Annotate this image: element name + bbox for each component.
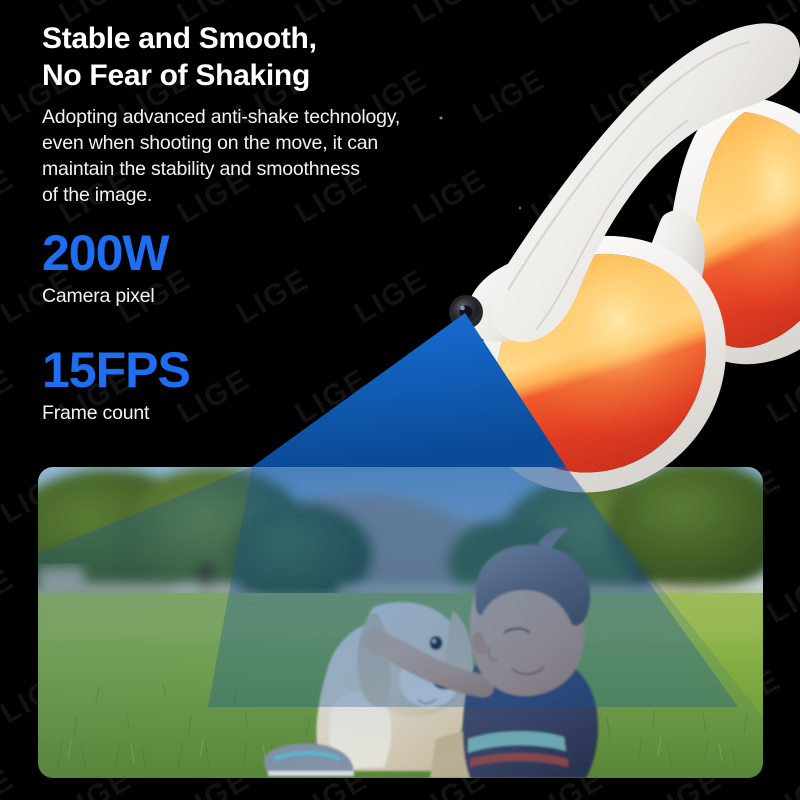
right-lens [692, 112, 800, 348]
watermark-text: LIGE [0, 763, 20, 800]
watermark-text: LIGE [703, 263, 788, 331]
camera-highlight [460, 306, 465, 311]
left-lens-glow [496, 254, 706, 473]
watermark-text: LIGE [231, 263, 316, 331]
temple-arm [492, 23, 800, 342]
right-lens-rim [668, 96, 800, 364]
watermark-text: LIGE [349, 263, 434, 331]
watermark-text: LIGE [0, 563, 20, 631]
watermark-text: LIGE [467, 63, 552, 131]
body-line-4: of the image. [42, 183, 472, 209]
headline-line-1: Stable and Smooth, [42, 20, 472, 57]
photo-artwork [38, 467, 763, 778]
watermark-text: LIGE [0, 163, 20, 231]
camera-bezel [449, 295, 483, 329]
stat-camera-pixel: 200W Camera pixel [42, 228, 169, 308]
watermark-text: LIGE [408, 363, 493, 431]
cone-beam [252, 313, 566, 467]
watermark-text: LIGE [762, 363, 800, 431]
watermark-text: LIGE [762, 763, 800, 800]
right-lens-glow [692, 112, 800, 348]
left-lens-rim [477, 236, 726, 493]
stat-frame-count: 15FPS Frame count [42, 345, 190, 425]
camera-aperture [460, 306, 473, 319]
stat-label-camera-pixel: Camera pixel [42, 285, 169, 308]
page-title: Stable and Smooth, No Fear of Shaking [42, 20, 472, 94]
watermark-text: LIGE [526, 163, 611, 231]
frame-specular-b [519, 207, 522, 210]
watermark-text: LIGE [762, 163, 800, 231]
watermark-text: LIGE [585, 63, 670, 131]
body-line-2: even when shooting on the move, it can [42, 131, 472, 157]
camera-lens [453, 299, 480, 326]
body-line-3: maintain the stability and smoothness [42, 157, 472, 183]
watermark-text: LIGE [467, 263, 552, 331]
watermark-text: LIGE [526, 0, 611, 31]
watermark-text: LIGE [585, 263, 670, 331]
watermark-text: LIGE [703, 63, 788, 131]
temple-arm-crease [536, 120, 688, 330]
headline-line-2: No Fear of Shaking [42, 57, 472, 94]
watermark-text: LIGE [762, 0, 800, 31]
left-lens [496, 254, 706, 473]
stat-value-frame-count: 15FPS [42, 345, 190, 395]
body-line-1: Adopting advanced anti-shake technology, [42, 105, 472, 131]
watermark-text: LIGE [0, 363, 20, 431]
watermark-text: LIGE [644, 363, 729, 431]
hinge-end-piece [467, 259, 563, 342]
stat-label-frame-count: Frame count [42, 402, 190, 425]
body-description: Adopting advanced anti-shake technology,… [42, 105, 472, 209]
watermark-text: LIGE [644, 163, 729, 231]
nose-bridge [637, 210, 705, 346]
frame-specular-a [521, 260, 524, 263]
copy-column: Stable and Smooth, No Fear of Shaking Ad… [42, 20, 472, 209]
watermark-text: LIGE [644, 0, 729, 31]
watermark-text: LIGE [526, 363, 611, 431]
watermark-text: LIGE [762, 563, 800, 631]
temple-arm-highlight [508, 42, 750, 290]
sample-photo [38, 467, 763, 778]
watermark-text: LIGE [0, 0, 20, 31]
banner-canvas: LIGELIGELIGELIGELIGELIGELIGELIGELIGELIGE… [0, 0, 800, 800]
stat-value-camera-pixel: 200W [42, 228, 169, 278]
watermark-text: LIGE [290, 363, 375, 431]
